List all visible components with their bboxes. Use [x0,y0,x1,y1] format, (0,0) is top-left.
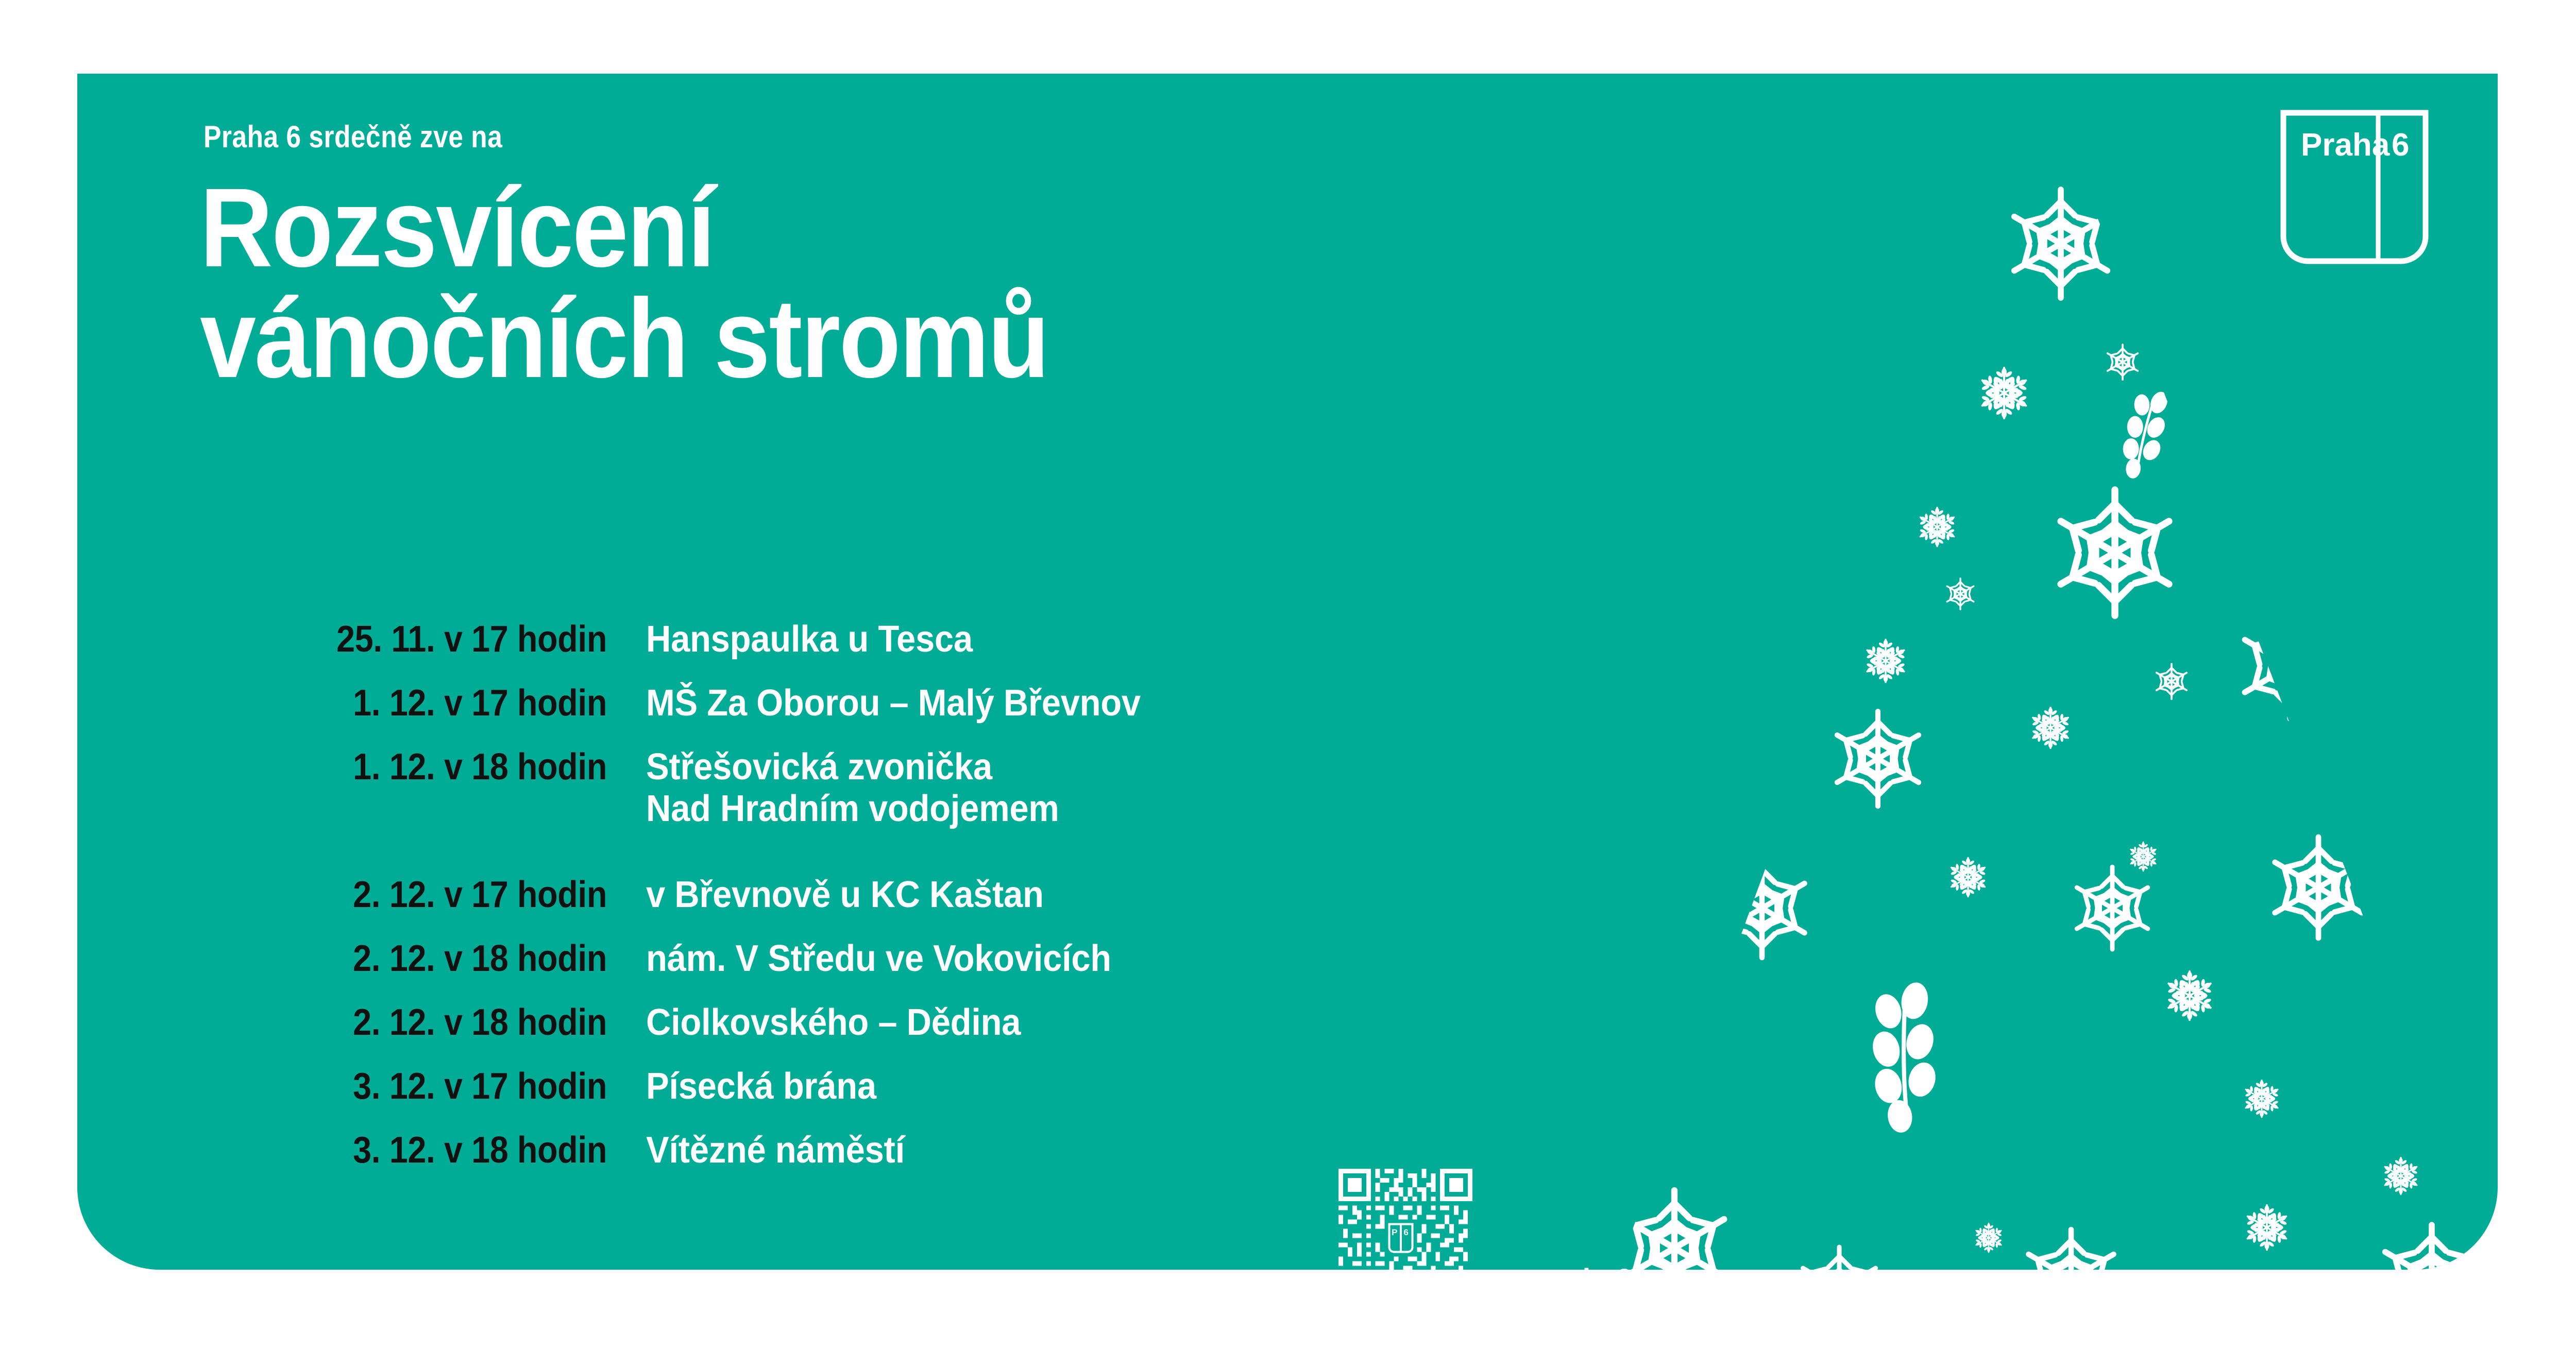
schedule-row: 3. 12. v 18 hodin Vítězné náměstí [200,1129,1178,1193]
leaf-twig [2280,467,2334,541]
schedule-location-line: nám. V Středu ve Vokovicích [646,938,1111,980]
snowflake [1861,639,1910,683]
snowflake [1719,859,1804,958]
schedule-date: 3. 12. v 18 hodin [241,1129,607,1171]
qr-center-6: 6 [1403,1227,1408,1237]
schedule-location-line: v Břevnově u KC Kaštan [646,874,1044,916]
website-url[interactable]: praha6.cz [1538,1262,1669,1270]
schedule-location-line-2: Nad Hradním vodojemem [646,788,1059,830]
snowflake [2162,970,2217,1021]
kicker-text: Praha 6 srdečně zve na [204,119,502,155]
snowflake [2157,664,2187,699]
title-line-2: vánočních stromů [200,284,1048,395]
snowflake [2077,867,2148,949]
schedule-location-line: Ciolkovského – Dědina [646,1002,1021,1044]
snowflake [2241,1080,2282,1118]
schedule-row: 2. 12. v 18 hodin nám. V Středu ve Vokov… [200,937,1178,1001]
schedule-date: 1. 12. v 17 hodin [241,682,607,724]
schedule-location-line: Hanspaulka u Tesca [646,619,973,660]
logo-name: Praha [2301,127,2390,163]
snowflake [2275,837,2362,938]
schedule-location-line: Střešovická zvonička [646,746,1059,788]
snowflake [2014,190,2108,298]
qr-center-p: P [1392,1227,1397,1237]
snowflake [1972,1223,2005,1253]
page-title: Rozsvícení vánočních stromů [200,173,1048,394]
schedule-location-line: MŠ Za Oborou – Malý Břevnov [646,682,1141,724]
snowflake [1947,578,1974,609]
snowflake [2108,345,2138,380]
schedule-location: Střešovická zvonička Nad Hradním vodojem… [646,746,1059,829]
schedule-location: v Břevnově u KC Kaštan [646,874,1044,916]
schedule-row: 1. 12. v 18 hodin Střešovická zvonička N… [200,746,1178,874]
logo-number: 6 [2392,127,2409,163]
berry-sprig [2112,384,2176,485]
schedule-row: 1. 12. v 17 hodin MŠ Za Oborou – Malý Bř… [200,682,1178,746]
snowflake [2380,1157,2421,1195]
snowflake [1975,367,2032,419]
title-line-1: Rozsvícení [200,173,1048,284]
schedule-location: Ciolkovského – Dědina [646,1002,1021,1044]
schedule-location: Vítězné náměstí [646,1130,905,1171]
snowflake [1803,1247,1875,1270]
snowflake [2027,707,2074,749]
schedule-list: 25. 11. v 17 hodin Hanspaulka u Tesca 1.… [200,618,1178,1193]
schedule-location-line: Písecká brána [646,1066,876,1107]
tree-shape [1625,190,2479,1270]
schedule-location: MŠ Za Oborou – Malý Břevnov [646,682,1141,724]
berry-sprig [1869,981,1939,1134]
snowflake [2245,613,2335,719]
praha6-logo: Praha 6 [2277,107,2432,267]
schedule-location-line: Vítězné náměstí [646,1130,905,1171]
poster-card: Praha 6 srdečně zve na Rozsvícení vánočn… [77,74,2498,1270]
schedule-location: Hanspaulka u Tesca [646,619,973,660]
schedule-date: 25. 11. v 17 hodin [241,618,607,660]
footer-qr-block: P 6 praha6.cz [1338,1169,1669,1270]
snowflake [1915,507,1959,547]
schedule-location: Písecká brána [646,1066,876,1107]
snowflake [2426,986,2459,1016]
snowflake [2127,842,2160,872]
snowflake [1946,857,1990,897]
snowflake [2061,490,2169,616]
schedule-date: 2. 12. v 18 hodin [241,937,607,980]
schedule-location: nám. V Středu ve Vokovicích [646,938,1111,980]
schedule-date: 1. 12. v 18 hodin [241,746,607,788]
schedule-row: 2. 12. v 17 hodin v Břevnově u KC Kaštan [200,874,1178,937]
qr-code[interactable]: P 6 [1338,1169,1472,1270]
snowflake [2385,1225,2479,1270]
schedule-date: 3. 12. v 17 hodin [241,1065,607,1107]
snowflake [2242,1204,2292,1251]
berry-sprig [2401,554,2448,635]
schedule-date: 2. 12. v 18 hodin [241,1001,607,1044]
schedule-row: 2. 12. v 18 hodin Ciolkovského – Dědina [200,1001,1178,1065]
schedule-row: 25. 11. v 17 hodin Hanspaulka u Tesca [200,618,1178,682]
schedule-row: 3. 12. v 17 hodin Písecká brána [200,1065,1178,1129]
snowflake [2028,1230,2113,1270]
schedule-date: 2. 12. v 17 hodin [241,874,607,916]
snowflake [1837,711,1919,806]
